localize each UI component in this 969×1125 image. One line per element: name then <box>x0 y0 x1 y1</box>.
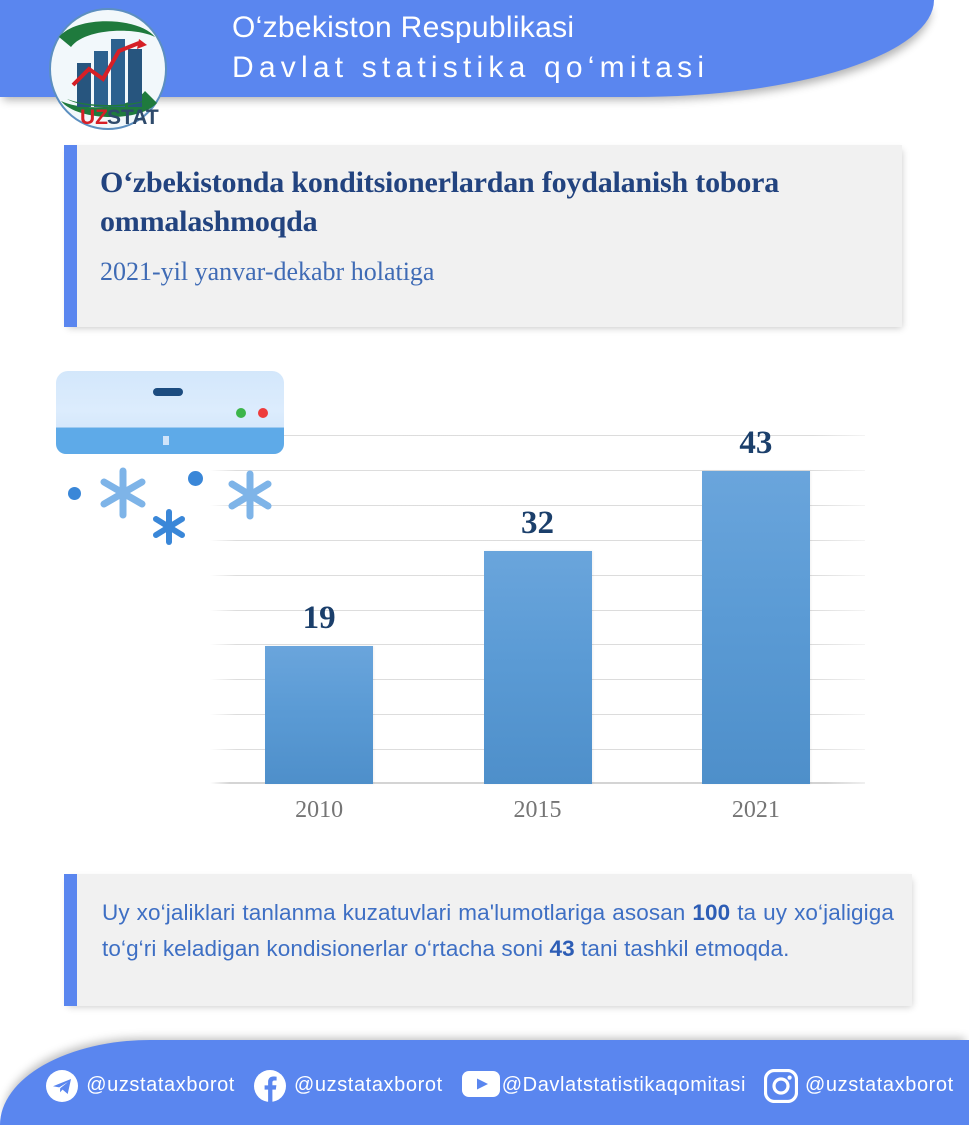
category-label: 2010 <box>249 795 389 825</box>
telegram-icon[interactable] <box>45 1069 79 1103</box>
air-conditioner-icon <box>56 371 284 454</box>
bar-2010 <box>265 646 373 784</box>
footer-band: @uzstataxborot@uzstataxborot@Davlatstati… <box>0 1040 969 1125</box>
ac-led-green-icon <box>236 408 246 418</box>
instagram-icon[interactable] <box>764 1069 798 1103</box>
category-label: 2021 <box>686 795 826 825</box>
infographic-page: O‘zbekiston Respublikasi Davlat statisti… <box>0 0 969 1125</box>
category-label: 2015 <box>468 795 608 825</box>
title-accent-bar <box>64 145 77 327</box>
page-title: O‘zbekistonda konditsionerlardan foydala… <box>100 163 870 241</box>
note-text: Uy xo‘jaliklari tanlanma kuzatuvlari ma'… <box>102 895 894 967</box>
bar-value-label: 32 <box>478 507 598 540</box>
bar-2015 <box>484 551 592 784</box>
social-link-facebook[interactable]: @uzstataxborot <box>253 1069 443 1103</box>
bar-value-label: 19 <box>259 602 379 635</box>
ac-display-icon <box>153 388 183 396</box>
bar-2021 <box>702 471 810 784</box>
facebook-icon[interactable] <box>253 1069 287 1103</box>
header-title-line1: O‘zbekiston Respublikasi <box>232 8 709 48</box>
header-title-line2: Davlat statistika qo‘mitasi <box>232 48 709 88</box>
snow-dot-icon <box>68 487 81 500</box>
snow-dot-icon <box>188 471 203 486</box>
bar-value-label: 43 <box>696 427 816 460</box>
ac-vent-strip <box>56 428 284 454</box>
social-handle: @Davlatstatistikaqomitasi <box>502 1074 746 1097</box>
note-card: Uy xo‘jaliklari tanlanma kuzatuvlari ma'… <box>64 874 912 1006</box>
note-fragment: tani tashkil etmoqda. <box>575 936 790 961</box>
snowflake-icon <box>225 470 275 520</box>
social-handle: @uzstataxborot <box>294 1074 443 1097</box>
snowflake-icon <box>150 508 188 546</box>
logo-text-stat: STAT <box>107 106 159 129</box>
ac-led-red-icon <box>258 408 268 418</box>
uzstat-logo: UZ STAT <box>47 7 169 131</box>
social-link-instagram[interactable]: @uzstataxborot <box>764 1069 954 1103</box>
social-handle: @uzstataxborot <box>86 1074 235 1097</box>
page-subtitle: 2021-yil yanvar-dekabr holatiga <box>100 255 870 289</box>
logo-text-uz: UZ <box>80 106 108 129</box>
youtube-icon[interactable] <box>461 1069 495 1103</box>
social-handle: @uzstataxborot <box>805 1074 954 1097</box>
snowflake-icon <box>96 466 150 520</box>
note-accent-bar <box>64 874 77 1006</box>
social-link-youtube[interactable]: @Davlatstatistikaqomitasi <box>461 1069 746 1103</box>
title-card: O‘zbekistonda konditsionerlardan foydala… <box>64 145 902 327</box>
header-titles: O‘zbekiston Respublikasi Davlat statisti… <box>232 8 709 88</box>
note-highlight: 43 <box>549 936 574 961</box>
ac-vent-notch <box>163 436 169 445</box>
note-fragment: Uy xo‘jaliklari tanlanma kuzatuvlari ma'… <box>102 900 692 925</box>
social-link-telegram[interactable]: @uzstataxborot <box>45 1069 235 1103</box>
footer-social-list: @uzstataxborot@uzstataxborot@Davlatstati… <box>0 1040 969 1125</box>
note-highlight: 100 <box>692 900 730 925</box>
